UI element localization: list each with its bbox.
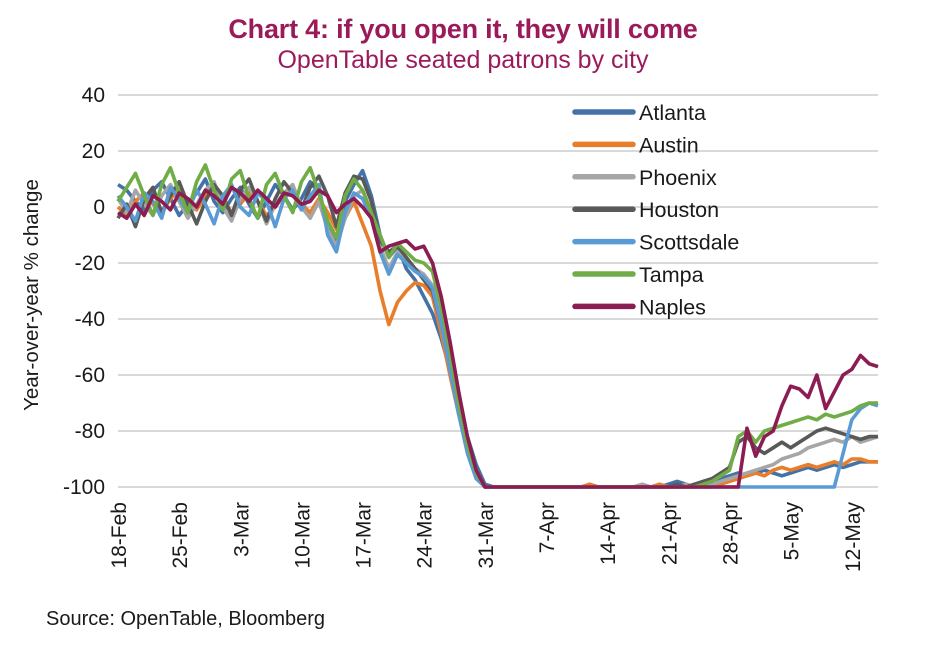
- x-axis-tick-label: 14-Apr: [597, 502, 620, 565]
- x-axis-tick-label: 12-May: [842, 502, 865, 573]
- y-axis-tick-label: 40: [82, 84, 105, 107]
- series-line-austin: [118, 187, 878, 487]
- data-series-group: [118, 165, 878, 487]
- x-axis-tick-label: 5-May: [781, 502, 804, 561]
- chart-plot-area: 40200-20-40-60-80-100 18-Feb25-Feb3-Mar1…: [0, 0, 926, 670]
- legend-label-atlanta: Atlanta: [639, 101, 706, 125]
- y-axis-title: Year-over-year % change: [20, 179, 43, 411]
- x-axis-tick-label: 31-Mar: [475, 502, 498, 569]
- y-axis-tick-label: 0: [93, 196, 105, 219]
- x-axis-tick-label: 3-Mar: [230, 502, 253, 557]
- y-axis-tick-label: -60: [75, 364, 105, 387]
- legend-label-austin: Austin: [639, 133, 699, 157]
- x-axis-tick-label: 7-Apr: [536, 502, 559, 553]
- y-axis-tick-label: -100: [63, 476, 105, 499]
- chart-figure: Chart 4: if you open it, they will come …: [0, 0, 926, 670]
- gridlines: [118, 95, 878, 487]
- x-axis-tick-label: 10-Mar: [291, 502, 314, 569]
- source-note: Source: OpenTable, Bloomberg: [46, 608, 325, 631]
- legend-label-phoenix: Phoenix: [639, 166, 717, 190]
- y-axis-tick-label: -20: [75, 252, 105, 275]
- legend-label-scottsdale: Scottsdale: [639, 231, 739, 255]
- y-axis-tick-labels: 40200-20-40-60-80-100: [63, 84, 105, 499]
- y-axis-tick-label: 20: [82, 140, 105, 163]
- y-axis-tick-label: -80: [75, 420, 105, 443]
- legend-label-naples: Naples: [639, 295, 706, 319]
- x-axis-tick-label: 21-Apr: [658, 502, 681, 565]
- x-axis-tick-labels: 18-Feb25-Feb3-Mar10-Mar17-Mar24-Mar31-Ma…: [108, 502, 865, 573]
- x-axis-tick-label: 24-Mar: [414, 502, 437, 569]
- x-axis-tick-label: 25-Feb: [169, 502, 192, 569]
- chart-legend: AtlantaAustinPhoenixHoustonScottsdaleTam…: [575, 101, 739, 319]
- series-line-naples: [118, 187, 878, 487]
- x-axis-tick-label: 18-Feb: [108, 502, 131, 569]
- x-axis-tick-label: 28-Apr: [719, 502, 742, 565]
- legend-label-houston: Houston: [639, 198, 719, 222]
- legend-label-tampa: Tampa: [639, 263, 704, 287]
- y-axis-tick-label: -40: [75, 308, 105, 331]
- x-axis-tick-label: 17-Mar: [353, 502, 376, 569]
